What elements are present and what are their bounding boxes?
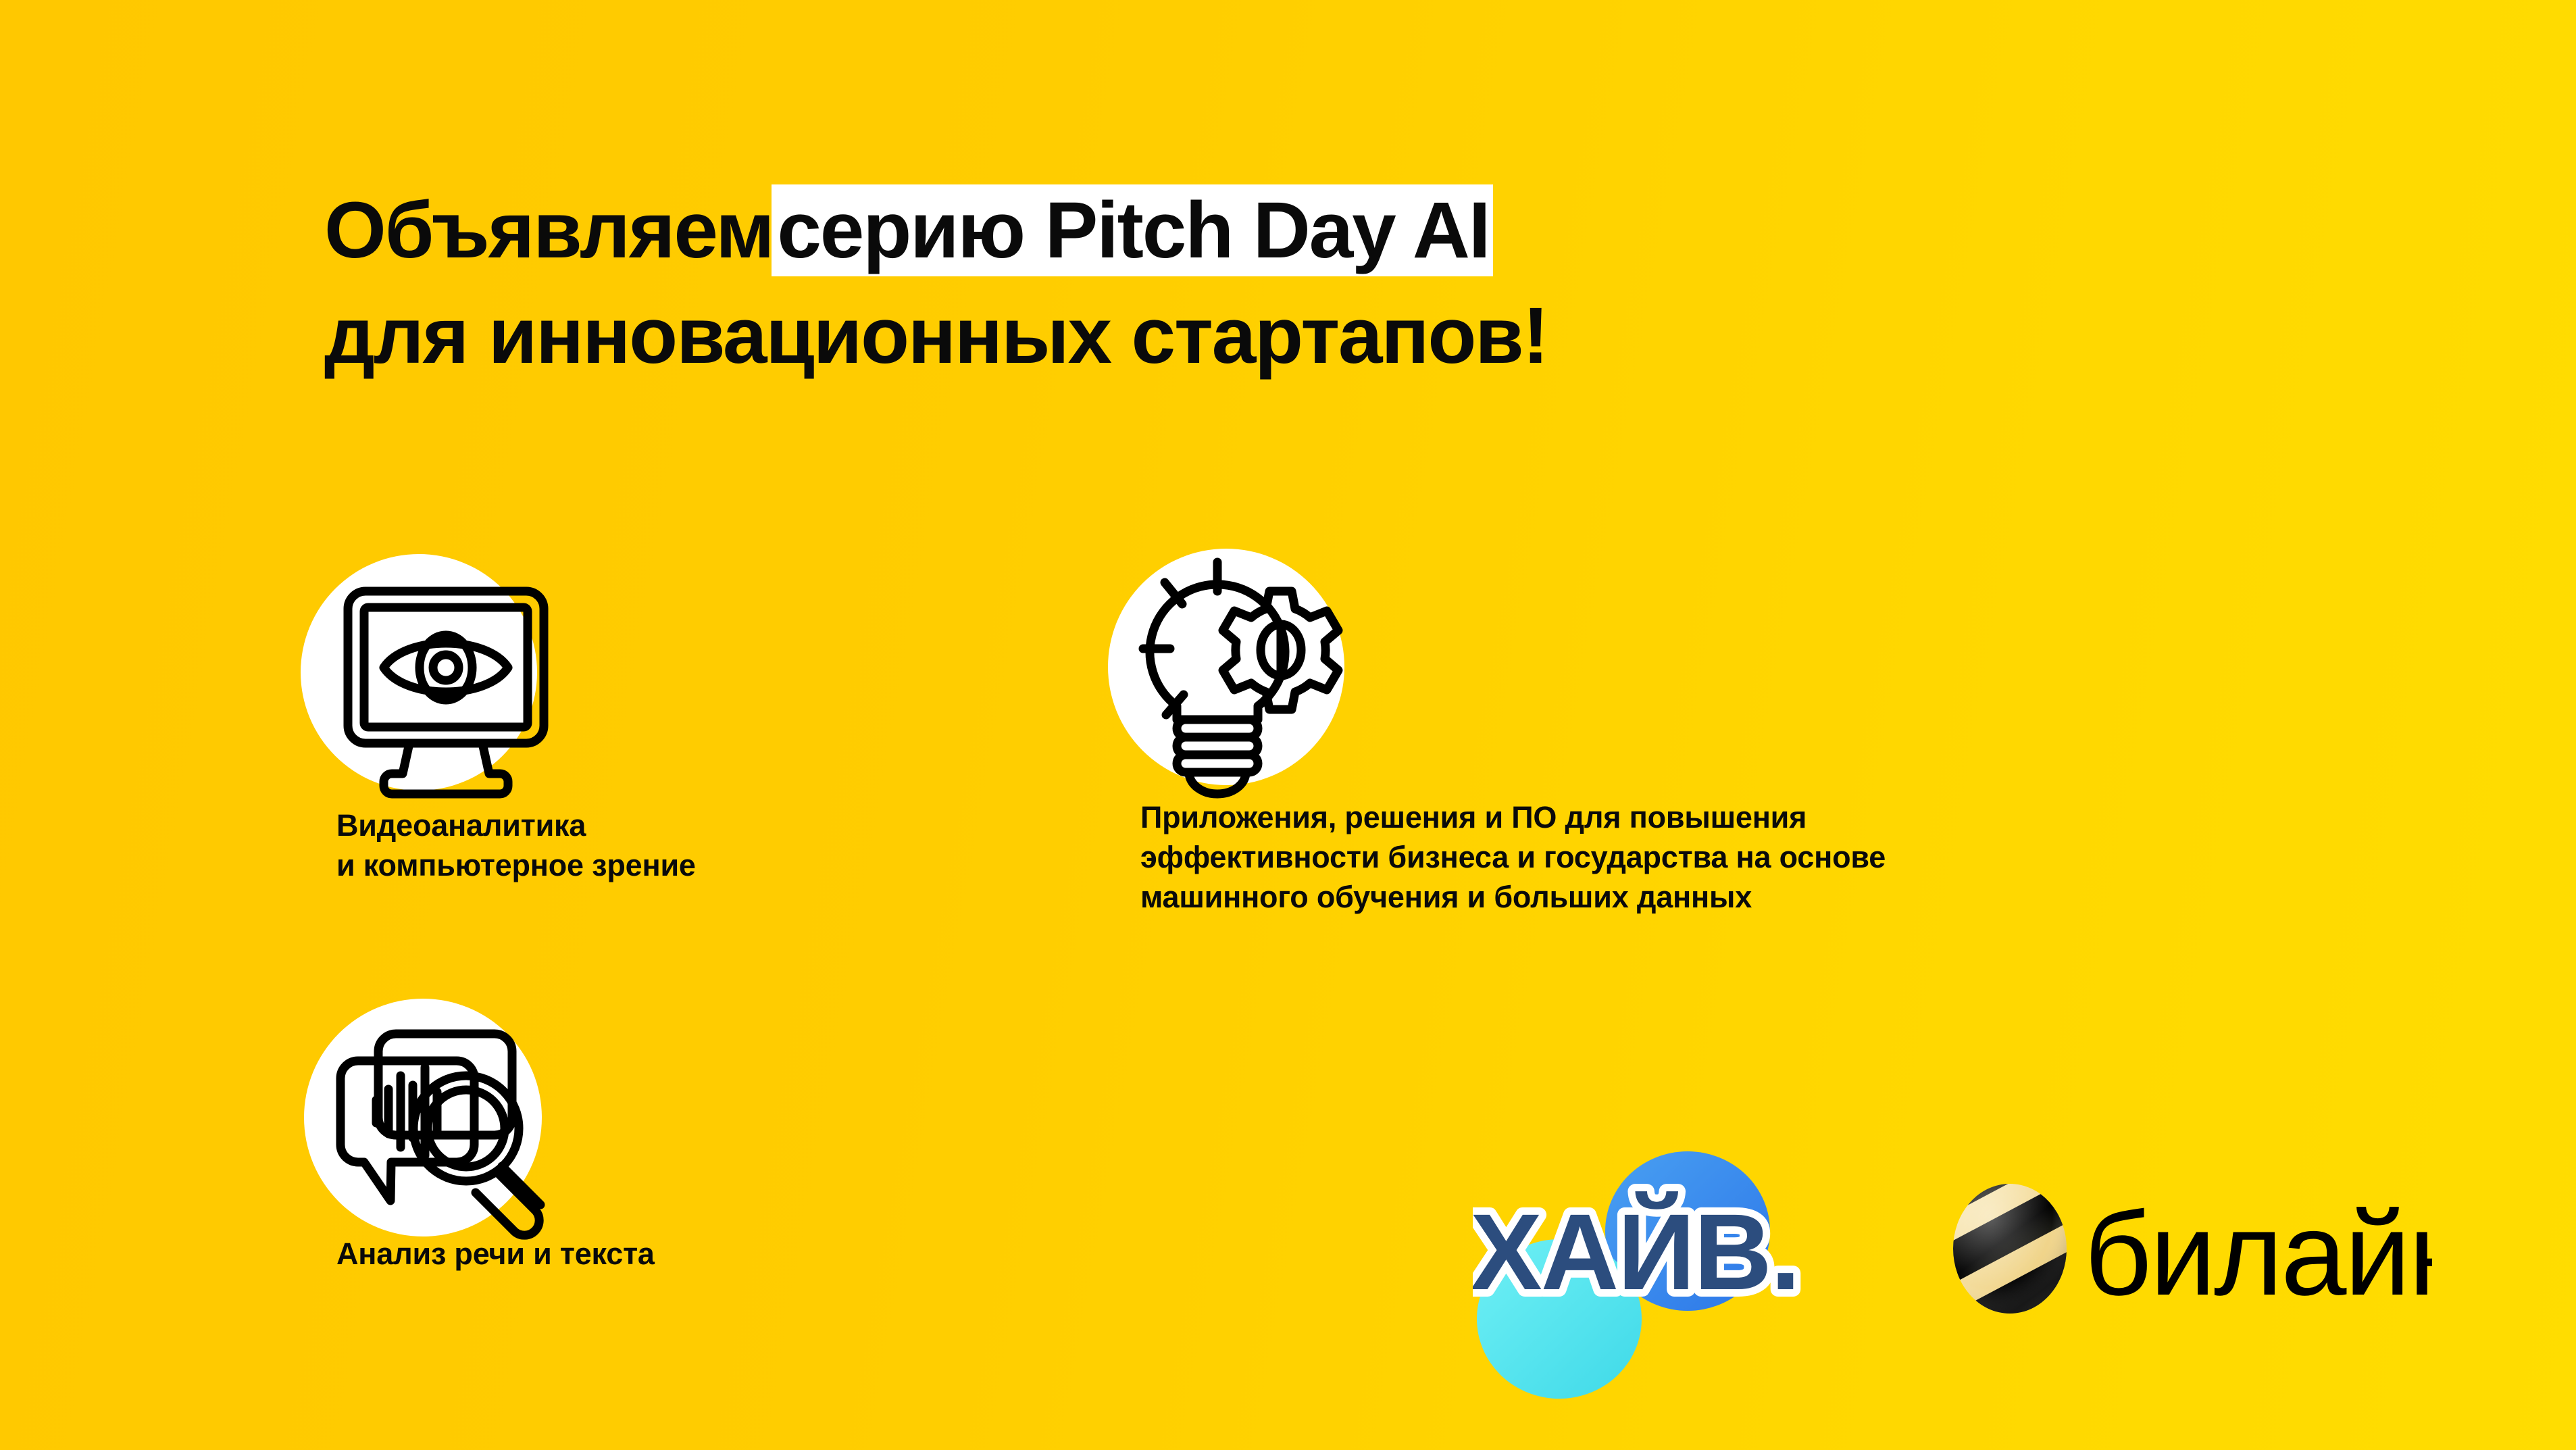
caption-line: машинного обучения и больших данных bbox=[1140, 877, 1886, 917]
headline: Объявляемсерию Pitch Day AI для инноваци… bbox=[324, 186, 2148, 380]
hive-logo: ХАЙВ. ХАЙВ. bbox=[1473, 1142, 1919, 1412]
caption-line: и компьютерное зрение bbox=[336, 845, 696, 885]
caption-line: эффективности бизнеса и государства на о… bbox=[1140, 837, 1886, 877]
headline-plain-text: Объявляем bbox=[324, 186, 773, 275]
headline-line-2: для инновационных стартапов! bbox=[324, 292, 2148, 380]
feature-video-caption: Видеоаналитика и компьютерное зрение bbox=[336, 805, 696, 885]
speech-analysis-icon-wrapper bbox=[297, 993, 595, 1249]
feature-applications-software: Приложения, решения и ПО для повышения э… bbox=[1094, 534, 1886, 917]
headline-highlighted-text: серию Pitch Day AI bbox=[773, 186, 1492, 275]
feature-apps-caption: Приложения, решения и ПО для повышения э… bbox=[1140, 797, 1886, 917]
lightbulb-gear-icon bbox=[1094, 534, 1392, 804]
logo-row: ХАЙВ. ХАЙВ. bbox=[1473, 1142, 2432, 1412]
lightbulb-gear-icon-wrapper bbox=[1094, 534, 1392, 804]
beeline-wordmark: билайн bbox=[2084, 1189, 2432, 1320]
speech-bubble-waveform-magnifier-icon bbox=[297, 993, 595, 1264]
monitor-eye-icon bbox=[297, 541, 595, 811]
feature-video-analytics: Видеоаналитика и компьютерное зрение bbox=[297, 541, 696, 885]
headline-line-1: Объявляемсерию Pitch Day AI bbox=[324, 186, 2148, 274]
caption-line: Видеоаналитика bbox=[336, 805, 696, 845]
monitor-eye-icon-wrapper bbox=[297, 541, 595, 811]
hive-wordmark: ХАЙВ. ХАЙВ. bbox=[1473, 1191, 1799, 1312]
feature-speech-text-analysis: Анализ речи и текста bbox=[297, 993, 655, 1274]
beeline-logo: билайн bbox=[1946, 1162, 2432, 1365]
svg-text:ХАЙВ.: ХАЙВ. bbox=[1473, 1191, 1799, 1312]
